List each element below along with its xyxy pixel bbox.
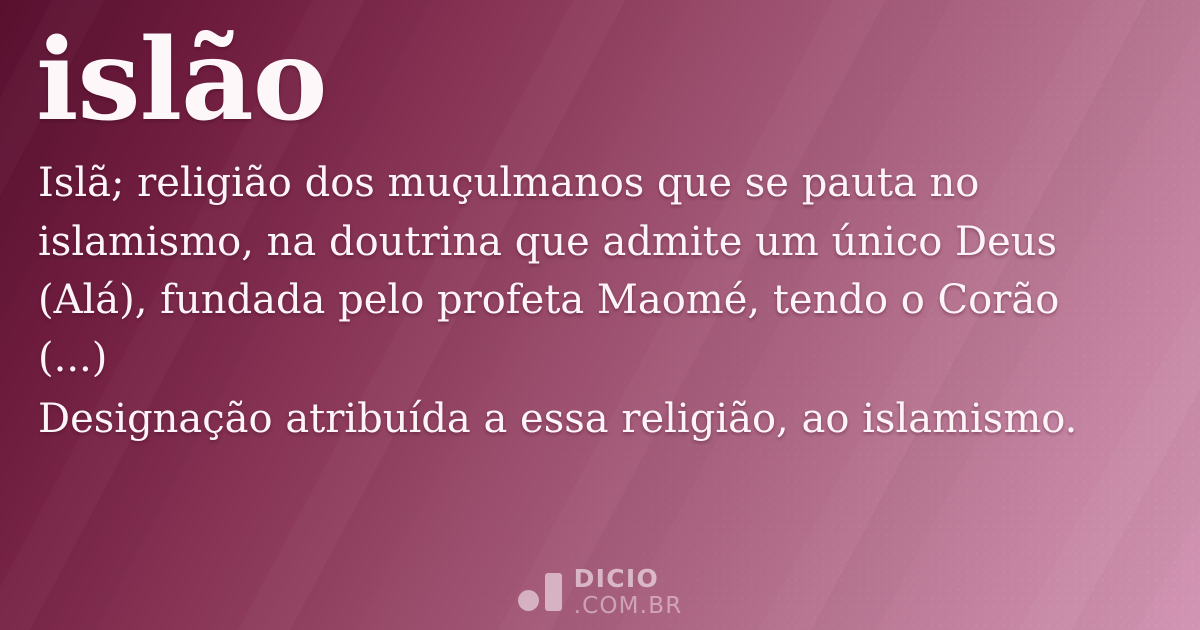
definition-item: Islã; religião dos muçulmanos que se pau… (38, 154, 1123, 388)
definition-item: Designação atribuída a essa religião, ao… (38, 390, 1123, 448)
definition-list: Islã; religião dos muçulmanos que se pau… (38, 154, 1166, 448)
logo-wordmark: DICIO .COM.BR (574, 566, 683, 618)
circle-mark-icon (518, 590, 539, 611)
logo-name: DICIO (574, 566, 683, 591)
page-title: islão (36, 24, 1166, 138)
card-content: islão Islã; religião dos muçulmanos que … (0, 0, 1200, 630)
logo-mark-icon (518, 573, 562, 611)
bar-mark-icon (545, 573, 562, 611)
dicio-definition-card: islão Islã; religião dos muçulmanos que … (0, 0, 1200, 630)
logo-tld: .COM.BR (574, 595, 683, 618)
dicio-logo: DICIO .COM.BR (0, 566, 1200, 618)
